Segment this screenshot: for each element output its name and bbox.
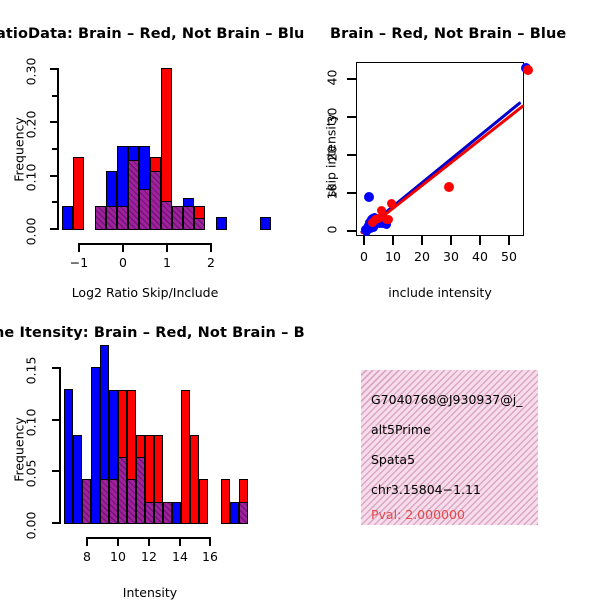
intensity-bar-overlap-11 [163,502,172,524]
intensity-bar-overlap-6 [118,457,127,524]
ratio-bar-overlap-3 [95,206,106,230]
scatter-ytick-mark-10 [347,192,356,194]
ratio-bar-overlap-8 [150,171,161,230]
intensity-histogram-xlabel: Intensity [60,585,240,600]
intensity-bar-overlap-20 [239,502,248,524]
intensity-ytick-2: 0.10 [24,406,39,440]
scatter-point-brain [523,65,533,75]
intensity-bar-red-13 [181,390,190,524]
scatter-point-brain [368,218,377,227]
intensity-ytick-mark-0 [52,522,61,524]
scatter-xlabel: include intensity [356,285,524,300]
ratio-bar-overlap-10 [172,206,183,230]
ratio-bar-overlap-9 [161,201,172,230]
intensity-histogram-plot-area [64,344,239,524]
ratio-ytick-3: 0.30 [24,55,39,89]
ratio-xtick-mark-0 [122,243,124,252]
panel-intensity-histogram: ne Itensity: Brain – Red, Not Brain – B … [0,300,300,600]
intensity-bar-blue-12 [172,502,181,524]
scatter-ytick-20: 20 [325,137,340,171]
ratio-bar-overlap-7 [139,189,150,230]
scatter-point-brain [384,215,393,224]
ratio-xtick-mark--1 [78,243,80,252]
scatter-ytick-mark-40 [347,78,356,80]
intensity-ytick-3: 0.15 [24,354,39,388]
ratio-xtick-label--1: −1 [61,255,97,270]
ratio-ytick-mark-1 [50,175,59,177]
ratio-xaxis [78,243,212,245]
intensity-bar-overlap-10 [154,502,163,524]
ratio-xtick-mark-1 [166,243,168,252]
scatter-ytick-0: 0 [325,218,340,242]
intensity-bar-blue-3 [91,367,100,524]
intensity-bar-overlap-4 [100,479,109,524]
intensity-bar-blue-19 [230,502,239,524]
intensity-bar-overlap-8 [136,457,145,524]
intensity-xtick-mark-12 [148,537,150,546]
ratio-bar-overlap-4 [106,206,117,230]
intensity-ytick-1: 0.05 [24,457,39,491]
ratio-ytick-mark-05 [52,201,59,203]
intensity-yaxis [59,367,61,524]
scatter-xtick-mark-50 [508,236,510,245]
scatter-xtick-mark-40 [479,236,481,245]
gene-info-box: G7040768@J930937@j_ alt5Prime Spata5 chr… [361,370,538,525]
scatter-ytick-mark-30 [347,116,356,118]
scatter-xtick-mark-20 [421,236,423,245]
scatter-ytick-mark-20 [347,154,356,156]
intensity-ytick-0: 0.00 [24,509,39,543]
scatter-point-not-brain [364,192,374,202]
intensity-ytick-mark-2 [52,419,61,421]
ratio-histogram-xlabel: Log2 Ratio Skip/Include [15,285,275,300]
info-line-pval: Pval: 2.000000 [371,507,465,522]
scatter-xtick-label-50: 50 [491,249,527,264]
scatter-ytick-40: 40 [325,61,340,95]
ratio-ytick-1: 0.10 [24,161,39,195]
intensity-bar-red-18 [221,479,230,524]
ratio-ytick-2: 0.20 [24,108,39,142]
ratio-ytick-mark-2 [50,121,59,123]
scatter-point-brain [444,182,454,192]
intensity-bar-overlap-7 [127,479,136,524]
intensity-histogram-title: ne Itensity: Brain – Red, Not Brain – B [0,325,305,341]
intensity-xtick-mark-16 [209,537,211,546]
ratio-bar-overlap-5 [117,206,128,230]
intensity-bar-red-14 [190,435,199,524]
scatter-ytick-mark-0 [347,230,356,232]
ratio-ytick-0: 0.00 [24,215,39,249]
scatter-ytick-10: 10 [325,175,340,209]
scatter-xtick-mark-30 [450,236,452,245]
intensity-bar-red-15 [199,479,208,524]
ratio-bar-blue-17 [260,217,271,230]
scatter-point-brain [377,206,386,215]
ratio-ytick-mark-25 [52,95,59,97]
ratio-ytick-mark-0 [50,228,59,230]
intensity-bar-overlap-2 [82,479,91,524]
ratio-bar-overlap-12 [194,218,205,230]
intensity-ytick-mark-1 [52,470,61,472]
ratio-bar-overlap-6 [128,160,139,230]
intensity-xtick-mark-14 [179,537,181,546]
ratio-bar-red-1 [73,157,84,230]
ratio-histogram-plot-area [62,68,244,230]
info-line-gene-symbol: Spata5 [371,452,415,467]
ratio-ytick-mark-15 [52,148,59,150]
info-line-locus: chr3.15804−1.11 [371,482,481,497]
intensity-bar-overlap-9 [145,502,154,524]
ratio-bar-blue-14 [216,217,227,230]
ratio-histogram-title: atioData: Brain – Red, Not Brain – Blu [0,26,304,42]
panel-info: G7040768@J930937@j_ alt5Prime Spata5 chr… [300,300,600,600]
scatter-point-brain [387,199,396,208]
ratio-ytick-mark-3 [50,68,59,70]
intensity-bar-blue-1 [73,435,82,524]
intensity-ytick-mark-3 [52,367,61,369]
ratio-bar-blue-0 [62,206,73,230]
panel-scatter: Brain – Red, Not Brain – Blue skip inten… [300,0,600,300]
scatter-ytick-30: 30 [325,99,340,133]
intensity-bar-overlap-5 [109,479,118,524]
ratio-bar-overlap-11 [183,206,194,230]
intensity-bar-blue-0 [64,389,73,524]
ratio-xtick-label-2: 2 [193,255,229,270]
ratio-xtick-label-1: 1 [149,255,185,270]
intensity-xtick-mark-10 [117,537,119,546]
info-line-gene-id: G7040768@J930937@j_ [371,392,522,407]
panel-ratio-histogram: atioData: Brain – Red, Not Brain – Blu F… [0,0,300,300]
ratio-xtick-mark-2 [210,243,212,252]
scatter-xtick-mark-0 [363,236,365,245]
intensity-xtick-label-16: 16 [192,549,228,564]
intensity-xtick-mark-8 [86,537,88,546]
ratio-xtick-label-0: 0 [105,255,141,270]
scatter-plot-frame [356,62,524,236]
info-line-event-type: alt5Prime [371,422,431,437]
scatter-xtick-mark-10 [392,236,394,245]
scatter-title: Brain – Red, Not Brain – Blue [330,26,566,42]
